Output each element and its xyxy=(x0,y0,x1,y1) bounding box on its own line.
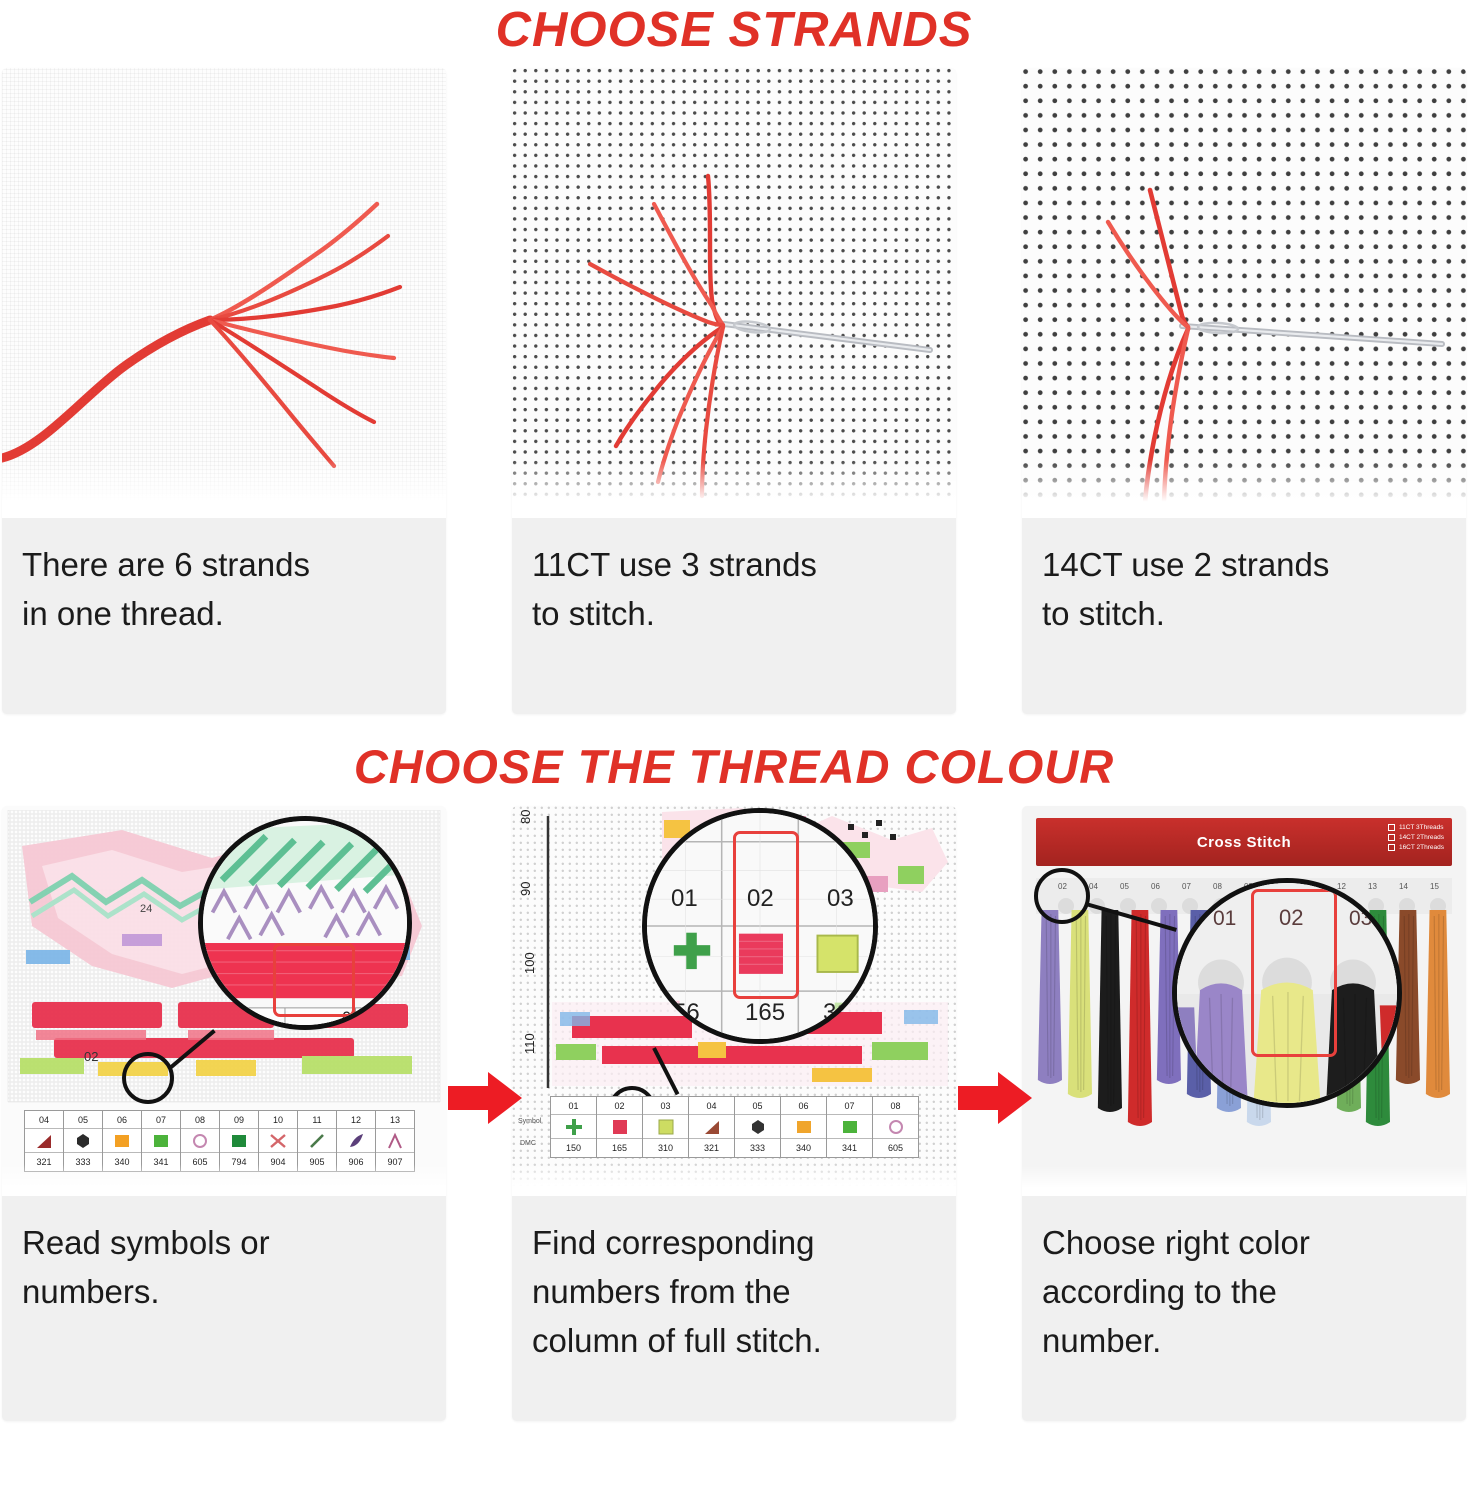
caption-line: to stitch. xyxy=(532,589,936,638)
legend-column-code: 605 xyxy=(873,1139,918,1157)
legend-column-number: 08 xyxy=(873,1097,918,1115)
legend-column: 04321 xyxy=(689,1097,735,1158)
legend-column-symbol xyxy=(781,1115,826,1139)
caption-11ct: 11CT use 3 strands to stitch. xyxy=(512,518,956,714)
legend-column-number: 09 xyxy=(220,1111,258,1129)
legend-column: 09794 xyxy=(220,1111,259,1172)
needle-and-thread-illustration xyxy=(512,68,956,518)
legend-column-symbol xyxy=(64,1129,102,1153)
legend-column-symbol xyxy=(25,1129,63,1153)
caption-line: There are 6 strands xyxy=(22,540,426,589)
yellow-green-square-icon xyxy=(656,1118,676,1136)
svg-text:90: 90 xyxy=(518,882,533,896)
legend-column-code: 333 xyxy=(735,1139,780,1157)
floss-bundle xyxy=(1096,910,1124,1150)
caption-line: according to the xyxy=(1042,1267,1446,1316)
peg-number: 05 xyxy=(1120,882,1129,891)
legend-column-symbol xyxy=(220,1129,258,1153)
caption-find-numbers: Find corresponding numbers from the colu… xyxy=(512,1196,956,1421)
peg-number: 07 xyxy=(1182,882,1191,891)
triangle-flag-icon xyxy=(34,1132,54,1150)
caret-icon xyxy=(385,1132,405,1150)
orange-square-icon xyxy=(112,1132,132,1150)
needle-shape xyxy=(1182,322,1442,344)
open-circle-icon xyxy=(190,1132,210,1150)
floss-bundle xyxy=(1424,910,1452,1150)
legend-column-symbol xyxy=(689,1115,734,1139)
leaf-icon xyxy=(346,1132,366,1150)
legend-column: 07341 xyxy=(142,1111,181,1172)
legend-column-code: 321 xyxy=(689,1139,734,1157)
peg-number: 04 xyxy=(1089,882,1098,891)
legend-column: 11905 xyxy=(298,1111,337,1172)
card-read-symbols: 24 xyxy=(2,806,446,1421)
legend-column-symbol xyxy=(551,1115,596,1139)
highlight-box-pattern xyxy=(273,943,355,1017)
legend-column-symbol xyxy=(643,1115,688,1139)
open-circle-icon xyxy=(886,1118,906,1136)
caption-line: column of full stitch. xyxy=(532,1316,936,1365)
legend-column-number: 08 xyxy=(181,1111,219,1129)
legend-column: 03310 xyxy=(643,1097,689,1158)
caption-six-strands: There are 6 strands in one thread. xyxy=(2,518,446,714)
caption-line: to stitch. xyxy=(1042,589,1446,638)
legend-column-symbol xyxy=(259,1129,297,1153)
svg-text:110: 110 xyxy=(522,1033,537,1054)
caption-line: Find corresponding xyxy=(532,1218,936,1267)
legend-column-number: 04 xyxy=(25,1111,63,1129)
photo-six-strands xyxy=(2,68,446,518)
magnifier-target-marker xyxy=(1034,868,1090,924)
legend-column-symbol xyxy=(873,1115,918,1139)
legend-column-symbol xyxy=(735,1115,780,1139)
photo-bottom-fade xyxy=(512,460,956,518)
legend-column-code: 340 xyxy=(781,1139,826,1157)
card-14ct-two-strands: 14CT use 2 strands to stitch. xyxy=(1022,68,1466,714)
magnifier-lens-threads: 01 02 03 xyxy=(1172,878,1402,1108)
dark-green-square-icon xyxy=(229,1132,249,1150)
caption-choose-color: Choose right color according to the numb… xyxy=(1022,1196,1466,1421)
photo-bottom-fade xyxy=(2,1164,446,1196)
card-choose-color: Cross Stitch 11CT 3Threads 14CT 2Threads xyxy=(1022,806,1466,1421)
split-thread-illustration xyxy=(2,68,446,518)
legend-column-number: 13 xyxy=(376,1111,414,1129)
magnifier-target-marker xyxy=(122,1052,174,1104)
floss-bundle xyxy=(1394,910,1422,1150)
caption-14ct: 14CT use 2 strands to stitch. xyxy=(1022,518,1466,714)
photo-thread-organizer: Cross Stitch 11CT 3Threads 14CT 2Threads xyxy=(1022,806,1466,1196)
legend-column-number: 12 xyxy=(337,1111,375,1129)
photo-grid-chart: 80 90 100 110 xyxy=(512,806,956,1196)
green-square-icon xyxy=(840,1118,860,1136)
flow-arrow-1 xyxy=(448,1070,522,1126)
highlight-box-grid xyxy=(733,831,799,999)
caption-line: 14CT use 2 strands xyxy=(1042,540,1446,589)
legend-column: 05333 xyxy=(735,1097,781,1158)
photo-bottom-fade xyxy=(1022,460,1466,518)
legend-column: 01150 xyxy=(551,1097,597,1158)
legend-column-number: 06 xyxy=(103,1111,141,1129)
legend-column: 06340 xyxy=(781,1097,827,1158)
legend-column-symbol xyxy=(181,1129,219,1153)
svg-text:24: 24 xyxy=(140,903,152,915)
legend-column-code: 310 xyxy=(643,1139,688,1157)
red-filled-square-icon xyxy=(610,1118,630,1136)
floss-bundle xyxy=(1066,910,1094,1150)
needle-and-thread-illustration xyxy=(1022,68,1466,518)
grid-legend-table: 0115002165033100432105333063400734108605 xyxy=(550,1096,919,1158)
filled-hexagon-icon xyxy=(748,1118,768,1136)
diagonal-slash-icon xyxy=(307,1132,327,1150)
legend-column-number: 11 xyxy=(298,1111,336,1129)
legend-column-number: 06 xyxy=(781,1097,826,1115)
legend-column-code: 341 xyxy=(827,1139,872,1157)
peg-number: 14 xyxy=(1399,882,1408,891)
legend-column: 06340 xyxy=(103,1111,142,1172)
thread-colour-card-row: 24 xyxy=(0,806,1468,1421)
caption-line: number. xyxy=(1042,1316,1446,1365)
legend-column: 13907 xyxy=(376,1111,415,1172)
floss-bundle xyxy=(1126,910,1154,1150)
legend-column-symbol xyxy=(337,1129,375,1153)
legend-column: 05333 xyxy=(64,1111,103,1172)
legend-column-number: 02 xyxy=(597,1097,642,1115)
legend-column-symbol xyxy=(298,1129,336,1153)
peg-number: 08 xyxy=(1213,882,1222,891)
photo-bottom-fade xyxy=(512,1162,956,1196)
legend-column-symbol xyxy=(597,1115,642,1139)
photo-14ct xyxy=(1022,68,1466,518)
card-11ct-three-strands: 11CT use 3 strands to stitch. xyxy=(512,68,956,714)
needle-shape xyxy=(724,320,930,350)
legend-column-code: 150 xyxy=(551,1139,596,1157)
legend-column: 10904 xyxy=(259,1111,298,1172)
legend-column-symbol xyxy=(827,1115,872,1139)
svg-text:100: 100 xyxy=(522,952,537,974)
orange-square-icon xyxy=(794,1118,814,1136)
svg-text:80: 80 xyxy=(518,810,533,824)
peg-number: 13 xyxy=(1368,882,1377,891)
caption-read-symbols: Read symbols or numbers. xyxy=(2,1196,446,1421)
legend-column: 08605 xyxy=(181,1111,220,1172)
caption-line: Read symbols or xyxy=(22,1218,426,1267)
section-heading-choose-strands: CHOOSE STRANDS xyxy=(0,0,1468,58)
legend-column: 08605 xyxy=(873,1097,919,1158)
legend-column-number: 03 xyxy=(643,1097,688,1115)
photo-bottom-fade xyxy=(1022,1166,1466,1196)
legend-column-symbol xyxy=(103,1129,141,1153)
highlight-box-threads xyxy=(1251,889,1337,1057)
legend-column-number: 01 xyxy=(551,1097,596,1115)
peg-number: 15 xyxy=(1430,882,1439,891)
card-find-numbers: 80 90 100 110 xyxy=(512,806,956,1421)
photo-11ct xyxy=(512,68,956,518)
legend-row-label-dmc: DMC xyxy=(520,1140,536,1147)
section-heading-choose-thread-colour: CHOOSE THE THREAD COLOUR xyxy=(0,736,1468,794)
photo-pattern-chart: 24 xyxy=(2,806,446,1196)
magnifier-lens-pattern: 07 xyxy=(198,816,412,1030)
peg-number: 06 xyxy=(1151,882,1160,891)
legend-column-number: 07 xyxy=(827,1097,872,1115)
triangle-flag-icon xyxy=(702,1118,722,1136)
green-plus-icon xyxy=(564,1118,584,1136)
caption-line: in one thread. xyxy=(22,589,426,638)
photo-bottom-fade xyxy=(2,460,446,518)
pattern-legend-table: 0432105333063400734108605097941090411905… xyxy=(24,1110,415,1172)
caption-line: numbers. xyxy=(22,1267,426,1316)
legend-column: 04321 xyxy=(25,1111,64,1172)
legend-column-number: 07 xyxy=(142,1111,180,1129)
legend-column-number: 10 xyxy=(259,1111,297,1129)
strands-card-row: There are 6 strands in one thread. xyxy=(0,68,1468,714)
legend-column: 12906 xyxy=(337,1111,376,1172)
caption-line: 11CT use 3 strands xyxy=(532,540,936,589)
green-square-icon xyxy=(151,1132,171,1150)
legend-column-number: 04 xyxy=(689,1097,734,1115)
legend-column-number: 05 xyxy=(735,1097,780,1115)
flow-arrow-2 xyxy=(958,1070,1032,1126)
legend-column-symbol xyxy=(376,1129,414,1153)
caption-line: Choose right color xyxy=(1042,1218,1446,1267)
card-six-strands: There are 6 strands in one thread. xyxy=(2,68,446,714)
legend-column-number: 05 xyxy=(64,1111,102,1129)
magnifier-lens-grid: 01 02 03 56 165 310 xyxy=(642,808,878,1044)
legend-column: 07341 xyxy=(827,1097,873,1158)
floss-bundle xyxy=(1036,910,1064,1150)
filled-hexagon-icon xyxy=(73,1132,93,1150)
legend-column-symbol xyxy=(142,1129,180,1153)
cross-x-icon xyxy=(268,1132,288,1150)
legend-column-code: 165 xyxy=(597,1139,642,1157)
legend-column: 02165 xyxy=(597,1097,643,1158)
caption-line: numbers from the xyxy=(532,1267,936,1316)
infographic-page: CHOOSE STRANDS xyxy=(0,0,1468,1500)
pattern-row-label-02: 02 xyxy=(84,1049,98,1064)
